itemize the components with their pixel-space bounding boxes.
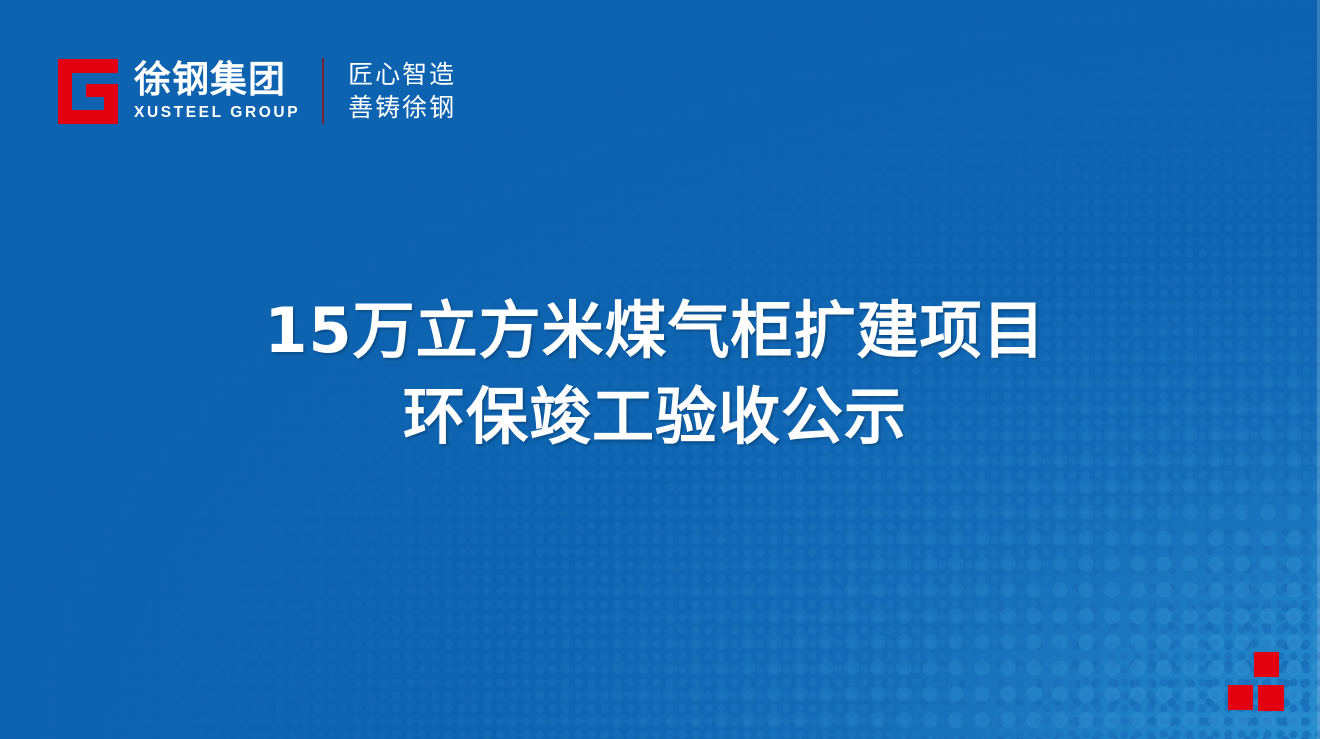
presentation-slide: 徐钢集团 XUSTEEL GROUP 匠心智造 善铸徐钢 15万立方米煤气柜扩建…: [0, 0, 1320, 739]
logo-wordmark: 徐钢集团 XUSTEEL GROUP: [134, 60, 300, 121]
corner-square-bottom-left: [1228, 685, 1253, 710]
slide-title-line-1: 15万立方米煤气柜扩建项目: [0, 288, 1310, 374]
corner-squares-decoration: [1228, 652, 1292, 712]
company-logo-lockup: 徐钢集团 XUSTEEL GROUP 匠心智造 善铸徐钢: [58, 58, 456, 124]
tagline-line-2: 善铸徐钢: [348, 91, 456, 124]
tagline-line-1: 匠心智造: [348, 58, 456, 91]
company-name-cn: 徐钢集团: [134, 60, 300, 99]
slide-title-line-2: 环保竣工验收公示: [0, 374, 1310, 460]
company-name-en: XUSTEEL GROUP: [134, 104, 300, 122]
company-tagline: 匠心智造 善铸徐钢: [348, 58, 456, 124]
logo-divider: [322, 58, 324, 124]
corner-square-bottom-right: [1258, 685, 1284, 711]
corner-square-top: [1254, 652, 1279, 677]
slide-title-block: 15万立方米煤气柜扩建项目 环保竣工验收公示: [0, 288, 1320, 459]
xusteel-g-monogram-icon: [58, 59, 118, 124]
